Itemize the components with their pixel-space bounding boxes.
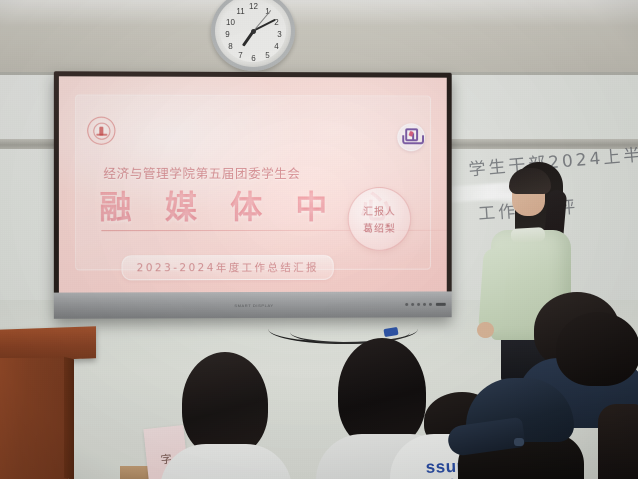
presenter-name: 葛绍梨 [363,220,396,235]
clock-numeral-12: 12 [248,2,259,11]
slide-subtitle: 经济与管理学院第五届团委学生会 [103,163,300,182]
display-bottom-bezel: SMART DISPLAY [54,291,452,318]
presentation-slide: 经济与管理学院第五届团委学生会 融 媒 体 中 心 汇报人 葛绍梨 2023-2… [59,76,447,292]
display-control-buttons[interactable] [405,303,432,306]
clock-numeral-3: 3 [274,30,285,39]
audience-hair [598,404,638,479]
display-ir-sensor [436,303,446,306]
university-seal-icon [87,117,115,145]
audience-shoulders [160,444,292,479]
smart-display[interactable]: 经济与管理学院第五届团委学生会 融 媒 体 中 心 汇报人 葛绍梨 2023-2… [54,71,452,319]
student-union-logo-icon [397,123,425,151]
display-button-3[interactable] [417,303,420,306]
audience-head [556,312,638,386]
display-button-2[interactable] [411,303,414,306]
university-seal-inner [93,122,110,139]
clock-numeral-6: 6 [248,54,259,63]
presenter-label: 汇报人 [363,203,396,218]
audience-head [182,352,268,456]
clock-face: 12 1 2 3 4 5 6 7 8 9 10 11 [220,0,286,62]
clock-numeral-9: 9 [222,30,233,39]
presenter-hair-front [509,168,551,194]
display-button-5[interactable] [429,303,432,306]
clock-numeral-7: 7 [235,51,246,60]
clock-numeral-8: 8 [225,42,236,51]
figure-icon [405,128,418,141]
presenter-badge: 汇报人 葛绍梨 [348,187,411,251]
wooden-podium-body [0,358,68,479]
classroom-presentation-photo: 学生干部2024上半年度 工作总结评 12 1 2 3 4 5 6 7 8 9 … [0,0,638,479]
clock-numeral-4: 4 [271,42,282,51]
clock-center-pin [251,29,256,34]
presenter-hand [477,322,494,338]
audience-member-edge-right [598,404,638,479]
slide-date-banner: 2023-2024年度工作总结汇报 [122,255,334,280]
ceiling-shadow [0,0,638,26]
display-screen[interactable]: 经济与管理学院第五届团委学生会 融 媒 体 中 心 汇报人 葛绍梨 2023-2… [59,76,447,292]
audience-member-cap [452,378,592,479]
display-brand-label: SMART DISPLAY [234,302,273,307]
clock-numeral-11: 11 [235,7,246,16]
clock-numeral-10: 10 [225,18,236,27]
baseball-cap-button [514,438,524,446]
clock-numeral-5: 5 [262,51,273,60]
audience-member-front-left [170,352,280,479]
display-button-1[interactable] [405,303,408,306]
wooden-podium-edge [64,357,74,479]
wooden-podium-top [0,326,96,361]
presenter-collar [511,227,546,243]
display-button-4[interactable] [423,303,426,306]
